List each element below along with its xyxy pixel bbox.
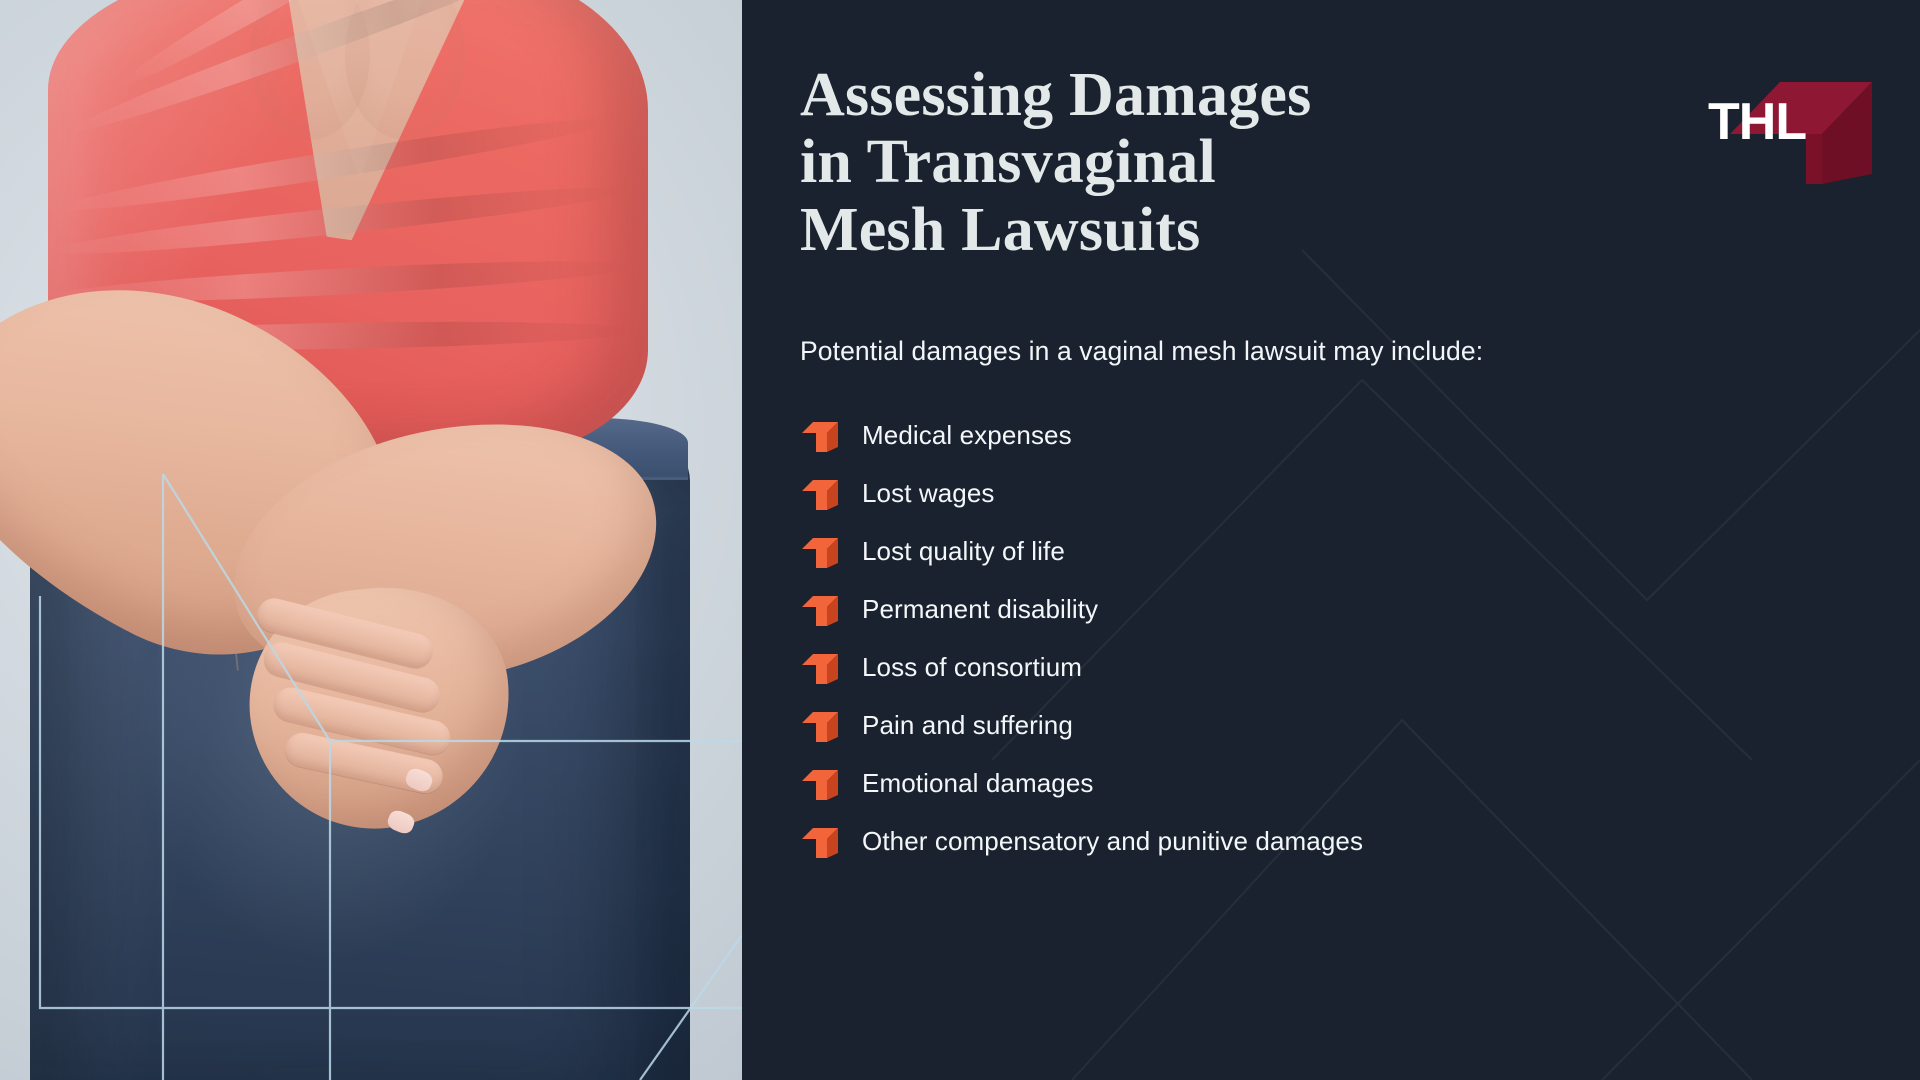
list-item-label: Emotional damages <box>862 768 1094 799</box>
list-item: Emotional damages <box>800 755 1860 813</box>
list-item-label: Loss of consortium <box>862 652 1082 683</box>
page-title-line-3: Mesh Lawsuits <box>800 196 1200 264</box>
list-item: Lost quality of life <box>800 523 1860 581</box>
list-item-label: Other compensatory and punitive damages <box>862 826 1363 857</box>
corner-arrow-bullet-icon <box>800 532 840 572</box>
list-item: Permanent disability <box>800 581 1860 639</box>
pelvic-pain-photo <box>0 0 742 1080</box>
corner-arrow-bullet-icon <box>800 706 840 746</box>
panel-inner: THL Assessing Damages in Transvaginal Me… <box>742 0 1920 1080</box>
corner-arrow-bullet-icon <box>800 764 840 804</box>
list-item: Other compensatory and punitive damages <box>800 813 1860 871</box>
damages-list: Medical expenses Lost wages <box>800 407 1860 871</box>
subtitle: Potential damages in a vaginal mesh laws… <box>800 336 1860 367</box>
page-title-line-2: in Transvaginal <box>800 128 1216 196</box>
thl-logo[interactable]: THL <box>1702 34 1872 184</box>
list-item-label: Medical expenses <box>862 420 1072 451</box>
corner-arrow-bullet-icon <box>800 822 840 862</box>
corner-arrow-bullet-icon <box>800 474 840 514</box>
list-item-label: Pain and suffering <box>862 710 1073 741</box>
list-item: Loss of consortium <box>800 639 1860 697</box>
corner-arrow-bullet-icon <box>800 648 840 688</box>
list-item: Medical expenses <box>800 407 1860 465</box>
infographic-root: THL Assessing Damages in Transvaginal Me… <box>0 0 1920 1080</box>
list-item: Pain and suffering <box>800 697 1860 755</box>
corner-arrow-bullet-icon <box>800 590 840 630</box>
page-title: Assessing Damages in Transvaginal Mesh L… <box>800 62 1540 264</box>
content-panel: THL Assessing Damages in Transvaginal Me… <box>742 0 1920 1080</box>
page-title-line-1: Assessing Damages <box>800 61 1311 129</box>
thl-logo-text: THL <box>1708 96 1806 148</box>
list-item-label: Permanent disability <box>862 594 1098 625</box>
list-item-label: Lost quality of life <box>862 536 1065 567</box>
list-item: Lost wages <box>800 465 1860 523</box>
photo-figure <box>0 0 742 1080</box>
list-item-label: Lost wages <box>862 478 995 509</box>
corner-arrow-bullet-icon <box>800 416 840 456</box>
